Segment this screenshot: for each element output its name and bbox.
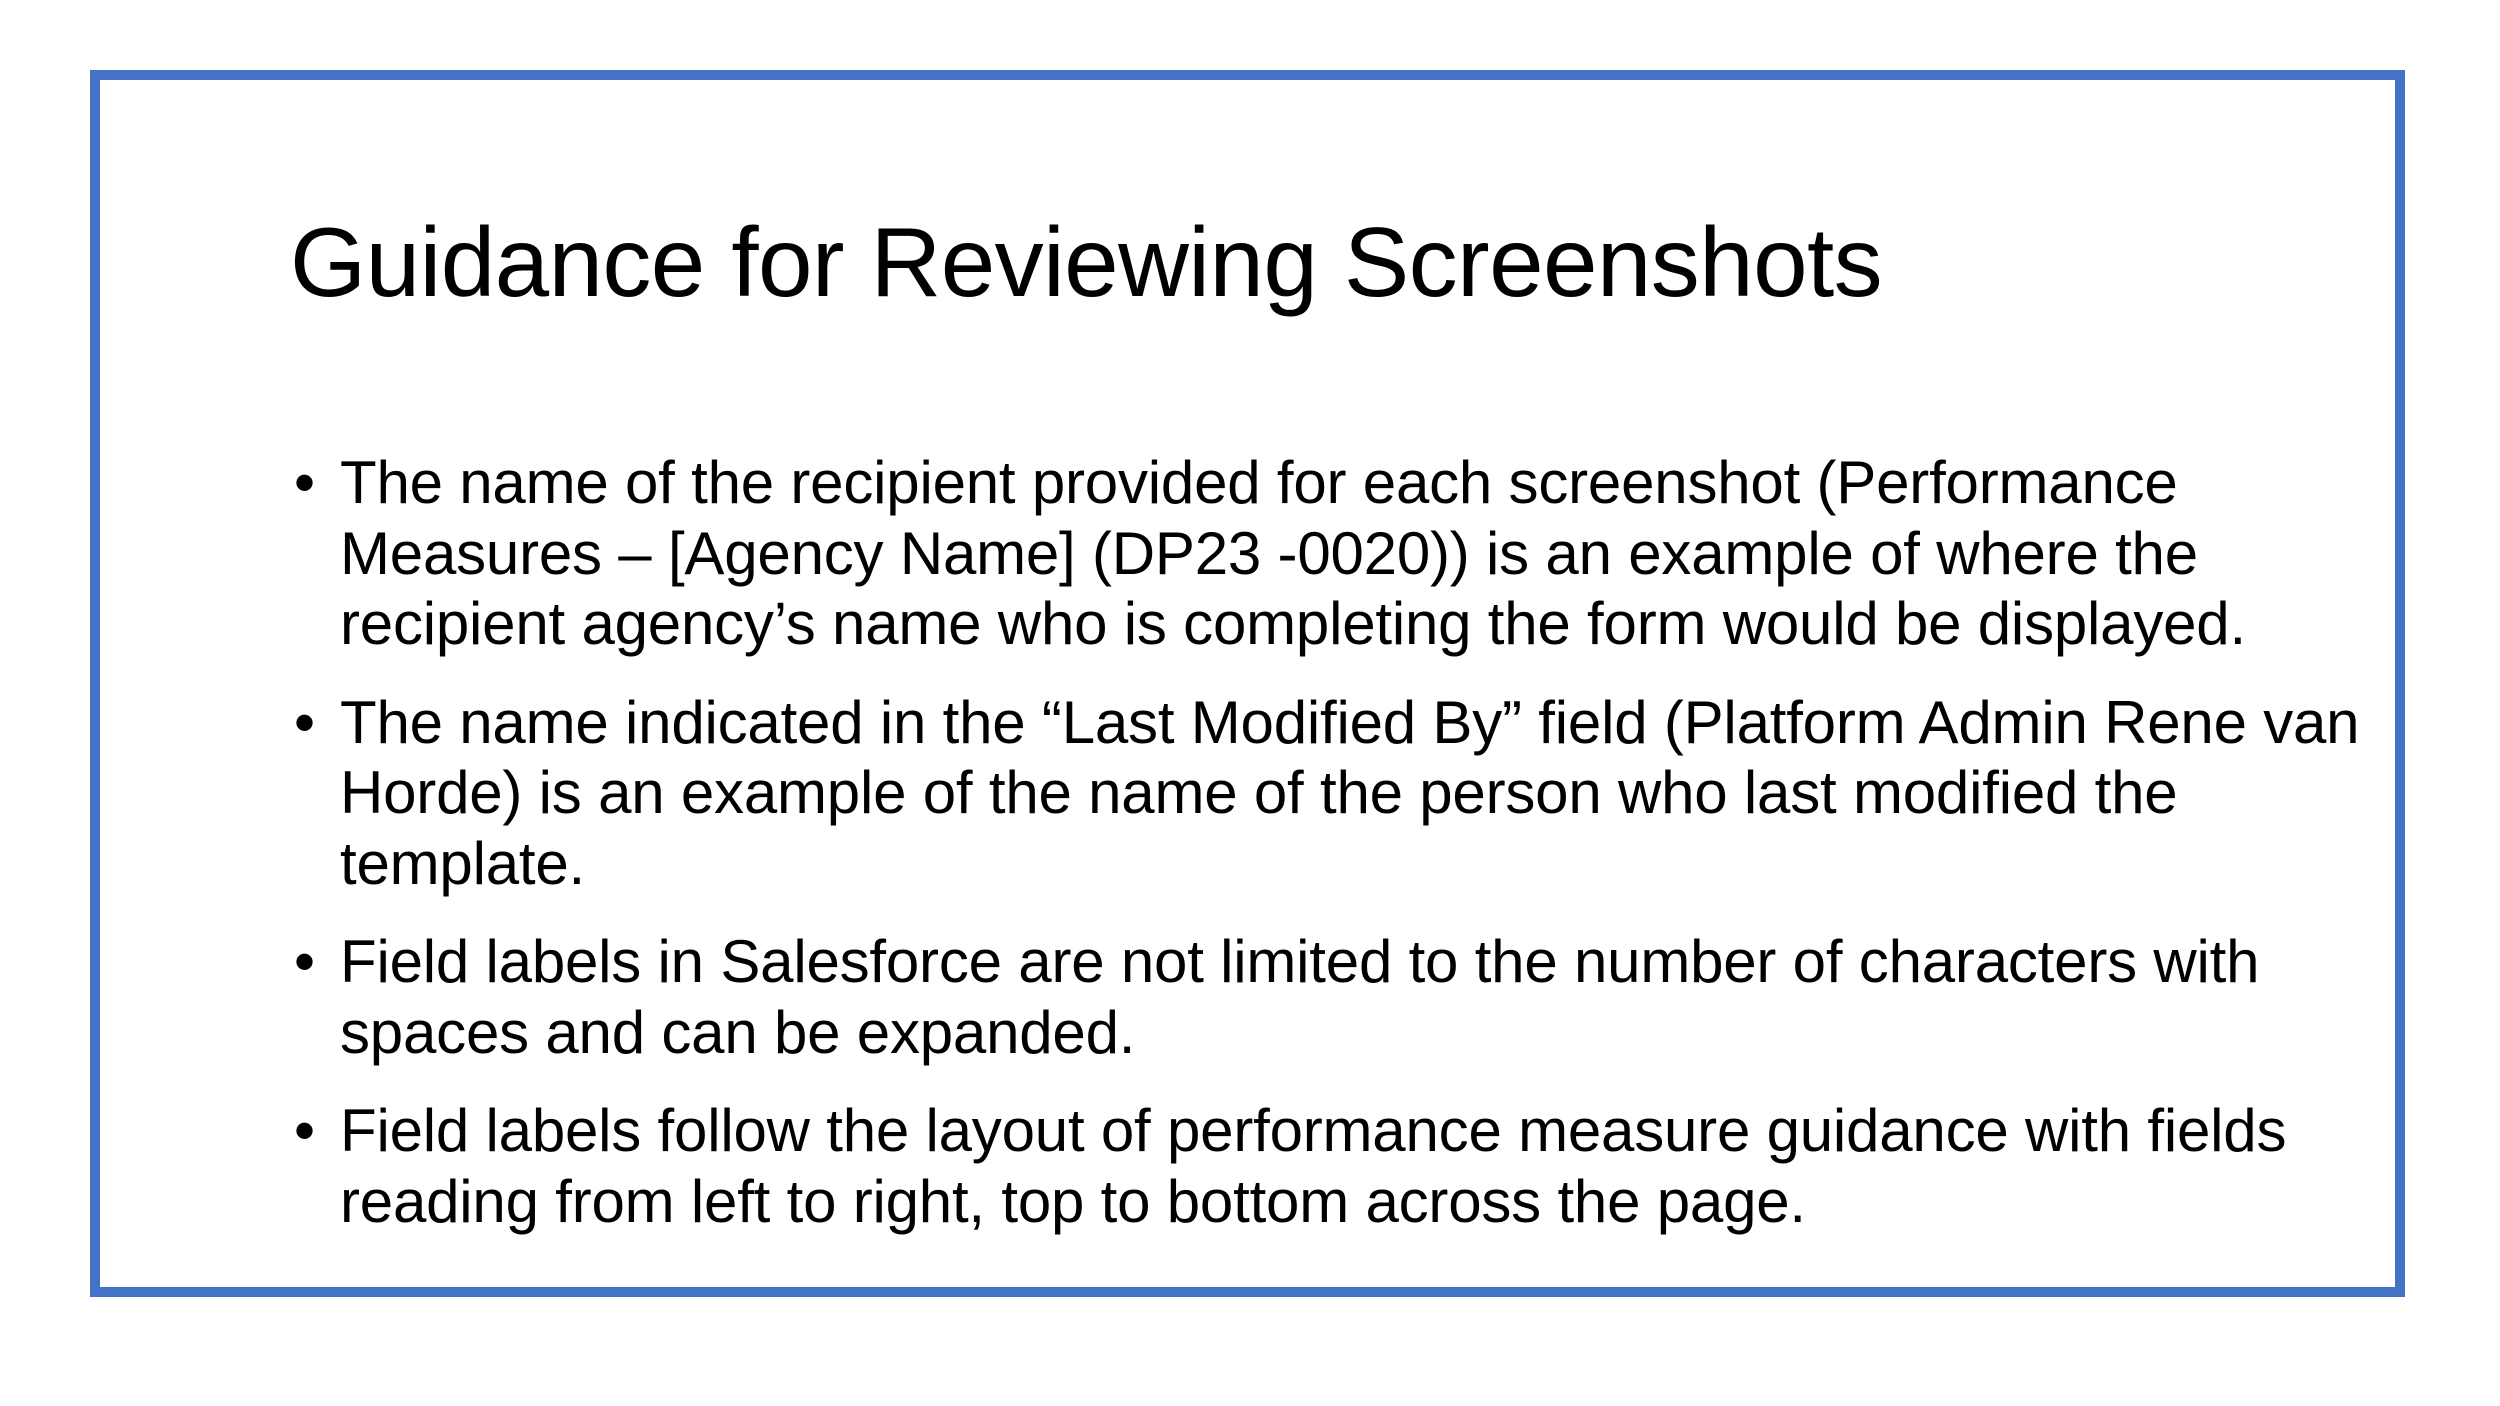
page-title: Guidance for Reviewing Screenshots bbox=[290, 208, 2470, 318]
title-block: Guidance for Reviewing Screenshots bbox=[290, 208, 2470, 318]
list-item: • Field labels in Salesforce are not lim… bbox=[290, 927, 2400, 1068]
bullet-list: • The name of the recipient provided for… bbox=[290, 448, 2400, 1237]
list-item: • Field labels follow the layout of perf… bbox=[290, 1096, 2400, 1237]
list-item-text: Field labels in Salesforce are not limit… bbox=[340, 927, 2400, 1068]
slide-canvas: Guidance for Reviewing Screenshots • The… bbox=[0, 0, 2500, 1406]
bullet-point-icon: • bbox=[294, 688, 324, 759]
list-item: • The name indicated in the “Last Modifi… bbox=[290, 688, 2400, 900]
list-item-text: Field labels follow the layout of perfor… bbox=[340, 1096, 2400, 1237]
list-item-text: The name indicated in the “Last Modified… bbox=[340, 688, 2400, 900]
list-item-text: The name of the recipient provided for e… bbox=[340, 448, 2400, 660]
bullet-point-icon: • bbox=[294, 1096, 324, 1167]
list-item: • The name of the recipient provided for… bbox=[290, 448, 2400, 660]
slide-border-frame: Guidance for Reviewing Screenshots • The… bbox=[90, 70, 2405, 1297]
bullet-point-icon: • bbox=[294, 927, 324, 998]
bullet-point-icon: • bbox=[294, 448, 324, 519]
